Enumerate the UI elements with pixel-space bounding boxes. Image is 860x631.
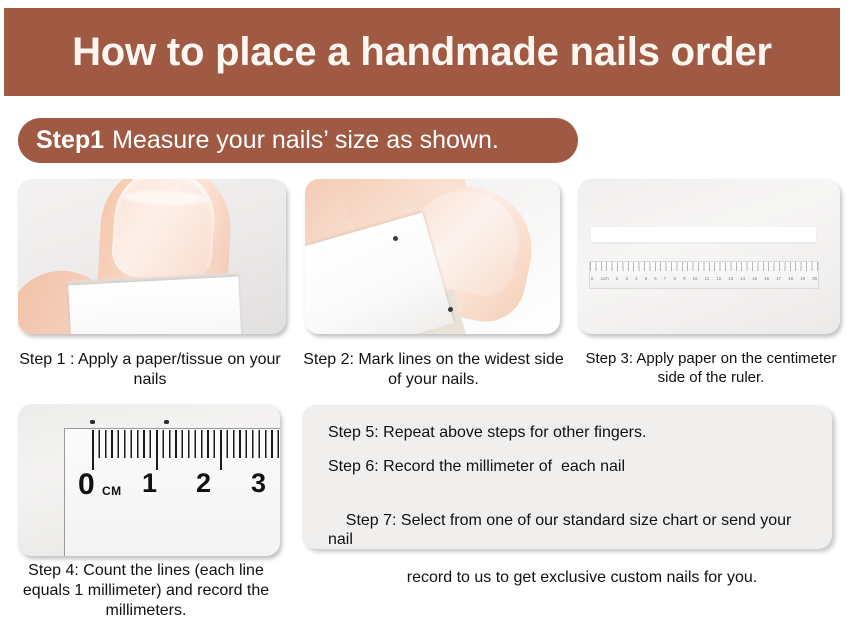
caption-step-4: Step 4: Count the lines (each line equal… bbox=[6, 561, 286, 621]
photo-background bbox=[578, 179, 840, 334]
ruler-number-19: 19 bbox=[800, 276, 805, 281]
ruler-number-18: 18 bbox=[788, 276, 793, 281]
ruler-number-5: 5 bbox=[645, 276, 647, 281]
caption-step-2: Step 2: Mark lines on the widest side of… bbox=[296, 350, 571, 390]
step-5-line: Step 5: Repeat above steps for other fin… bbox=[328, 423, 810, 442]
ruler-label-2: 2 bbox=[196, 470, 211, 497]
step-7-first-line: Step 7: Select from one of our standard … bbox=[328, 512, 796, 548]
photo-1-content bbox=[18, 179, 286, 334]
steps-5-7-panel: Step 5: Repeat above steps for other fin… bbox=[302, 405, 832, 549]
ruler-number-6: 6 bbox=[654, 276, 656, 281]
photo-3-content: 01cm234567891011121314151617181920 bbox=[578, 179, 840, 334]
pen-mark-bottom bbox=[448, 307, 453, 312]
photo-ruler-closeup: 0 CM 1 2 3 bbox=[18, 404, 280, 556]
pen-mark-top bbox=[393, 236, 398, 241]
ruler-number-1: 1cm bbox=[601, 276, 609, 281]
page-title: How to place a handmade nails order bbox=[72, 30, 772, 75]
ruler-number-11: 11 bbox=[705, 276, 709, 281]
ruler-number-16: 16 bbox=[764, 276, 769, 281]
ruler-label-3: 3 bbox=[251, 470, 266, 497]
ruler-number-0: 0 bbox=[591, 276, 593, 281]
ruler-unit-label: CM bbox=[102, 484, 122, 498]
pen-mark-left bbox=[90, 420, 95, 424]
photo-finger-with-paper bbox=[18, 179, 286, 334]
ruler: 01cm234567891011121314151617181920 bbox=[589, 261, 819, 289]
header-banner: How to place a handmade nails order bbox=[4, 8, 840, 96]
step-6-line: Step 6: Record the millimeter of each na… bbox=[328, 457, 810, 476]
step-7-second-line: record to us to get exclusive custom nai… bbox=[354, 568, 810, 587]
step-7-line: Step 7: Select from one of our standard … bbox=[328, 491, 810, 625]
ruler-label-1: 1 bbox=[142, 470, 157, 497]
step1-text: Measure your nails’ size as shown. bbox=[112, 126, 499, 155]
ruler-number-2: 2 bbox=[616, 276, 618, 281]
ruler-number-20: 20 bbox=[812, 276, 817, 281]
photo-2-content bbox=[305, 179, 560, 334]
ruler-tick-marks bbox=[590, 262, 818, 271]
ruler-number-14: 14 bbox=[740, 276, 745, 281]
ruler-number-8: 8 bbox=[673, 276, 675, 281]
centimeter-tick-marks bbox=[92, 430, 280, 470]
step1-label: Step1 bbox=[36, 126, 104, 155]
photo-ruler-with-paper: 01cm234567891011121314151617181920 bbox=[578, 179, 840, 334]
ruler-number-15: 15 bbox=[752, 276, 757, 281]
ruler-number-12: 12 bbox=[716, 276, 721, 281]
ruler-number-13: 13 bbox=[728, 276, 733, 281]
ruler-number-7: 7 bbox=[664, 276, 666, 281]
ruler-zero-label: 0 bbox=[78, 470, 95, 500]
photo-4-content: 0 CM 1 2 3 bbox=[18, 404, 280, 556]
ruler-number-10: 10 bbox=[693, 276, 698, 281]
caption-step-1: Step 1 : Apply a paper/tissue on your na… bbox=[10, 350, 290, 390]
ruler-number-17: 17 bbox=[776, 276, 781, 281]
ruler-number-4: 4 bbox=[635, 276, 637, 281]
ruler-number-9: 9 bbox=[683, 276, 685, 281]
caption-step-3: Step 3: Apply paper on the centimeter si… bbox=[575, 350, 847, 388]
pen-mark-right bbox=[164, 420, 169, 424]
paper-strip bbox=[68, 277, 241, 334]
paper-strip bbox=[591, 227, 816, 242]
photo-marked-strip bbox=[305, 179, 560, 334]
ruler-number-3: 3 bbox=[626, 276, 628, 281]
ruler-number-row: 01cm234567891011121314151617181920 bbox=[591, 273, 817, 283]
step1-banner: Step1 Measure your nails’ size as shown. bbox=[18, 118, 578, 163]
